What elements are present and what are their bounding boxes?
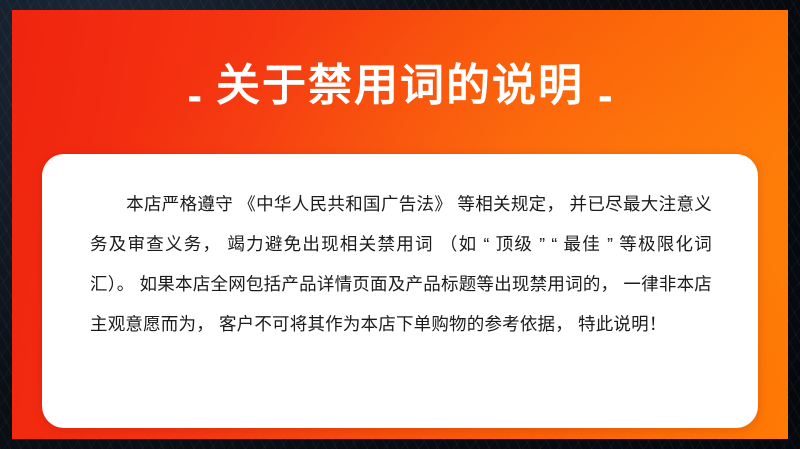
red-gradient-poster: -关于禁用词的说明- 本店严格遵守 《中华人民共和国广告法》 等相关规定， 并已… — [12, 10, 788, 439]
statement-card: 本店严格遵守 《中华人民共和国广告法》 等相关规定， 并已尽最大注意义务及审查义… — [42, 154, 758, 428]
title-block: -关于禁用词的说明- — [12, 64, 788, 121]
statement-paragraph: 本店严格遵守 《中华人民共和国广告法》 等相关规定， 并已尽最大注意义务及审查义… — [90, 194, 712, 334]
statement-text: 本店严格遵守 《中华人民共和国广告法》 等相关规定， 并已尽最大注意义务及审查义… — [90, 184, 712, 344]
page-title: 关于禁用词的说明 — [216, 64, 584, 108]
poster-page: -关于禁用词的说明- 本店严格遵守 《中华人民共和国广告法》 等相关规定， 并已… — [0, 0, 800, 449]
title-dash-right-icon: - — [584, 71, 627, 121]
title-dash-left-icon: - — [173, 71, 216, 121]
